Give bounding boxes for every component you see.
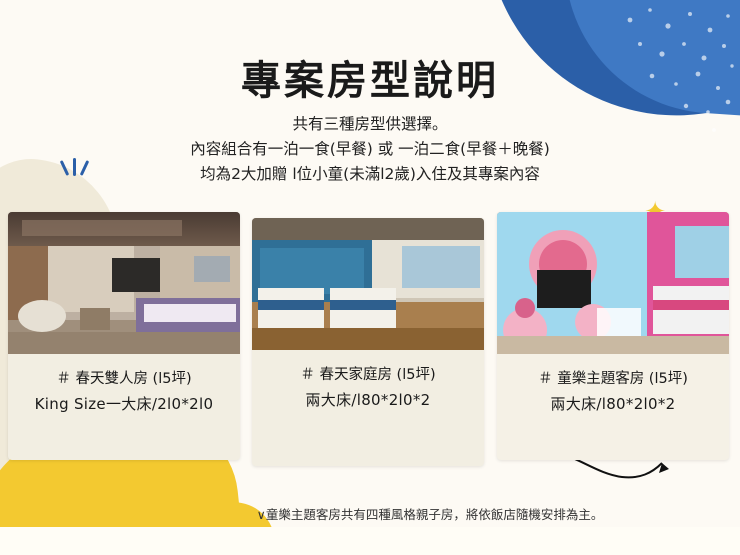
room-bed-kids-theme: 兩大床/l80*2l0*2 — [503, 392, 723, 417]
room-photo-kids-theme — [497, 212, 729, 354]
room-caption-spring-double: ＃ 春天雙人房 (l5坪) King Size一大床/2l0*2l0 — [8, 354, 240, 417]
room-card-kids-theme[interactable]: ＃ 童樂主題客房 (l5坪) 兩大床/l80*2l0*2 — [497, 212, 729, 460]
room-caption-kids-theme: ＃ 童樂主題客房 (l5坪) 兩大床/l80*2l0*2 — [497, 354, 729, 417]
room-bed-spring-double: King Size一大床/2l0*2l0 — [14, 392, 234, 417]
room-name-spring-family: ＃ 春天家庭房 (l5坪) — [258, 364, 478, 388]
room-name-spring-double: ＃ 春天雙人房 (l5坪) — [14, 368, 234, 392]
page-title: 專案房型說明 — [0, 48, 740, 106]
room-card-spring-family[interactable]: ＃ 春天家庭房 (l5坪) 兩大床/l80*2l0*2 — [252, 218, 484, 466]
room-bed-spring-family: 兩大床/l80*2l0*2 — [258, 388, 478, 413]
subtitle-line-1: 共有三種房型供選擇。 — [0, 112, 740, 137]
footnote-text: ∨童樂主題客房共有四種風格親子房，將依飯店隨機安排為主。 — [137, 507, 604, 522]
subtitle-line-3: 均為2大加贈 l位小童(未滿l2歲)入住及其專案內容 — [0, 162, 740, 187]
room-photo-spring-double — [8, 212, 240, 354]
bottom-strip — [0, 527, 740, 555]
room-caption-spring-family: ＃ 春天家庭房 (l5坪) 兩大床/l80*2l0*2 — [252, 350, 484, 413]
room-card-spring-double[interactable]: ＃ 春天雙人房 (l5坪) King Size一大床/2l0*2l0 — [8, 212, 240, 460]
room-card-list: ＃ 春天雙人房 (l5坪) King Size一大床/2l0*2l0 — [0, 212, 740, 472]
subtitle-line-2: 內容組合有一泊一食(早餐) 或 一泊二食(早餐＋晚餐) — [0, 137, 740, 162]
room-photo-spring-family — [252, 218, 484, 350]
poster-page: ✦ ✦ 專案房型說明 共有三種房型供選擇。 內容組合有一泊一食(早餐) 或 一泊… — [0, 0, 740, 555]
subtitle-block: 共有三種房型供選擇。 內容組合有一泊一食(早餐) 或 一泊二食(早餐＋晚餐) 均… — [0, 112, 740, 187]
room-name-kids-theme: ＃ 童樂主題客房 (l5坪) — [503, 368, 723, 392]
footnote: ∨童樂主題客房共有四種風格親子房，將依飯店隨機安排為主。 — [0, 504, 740, 523]
